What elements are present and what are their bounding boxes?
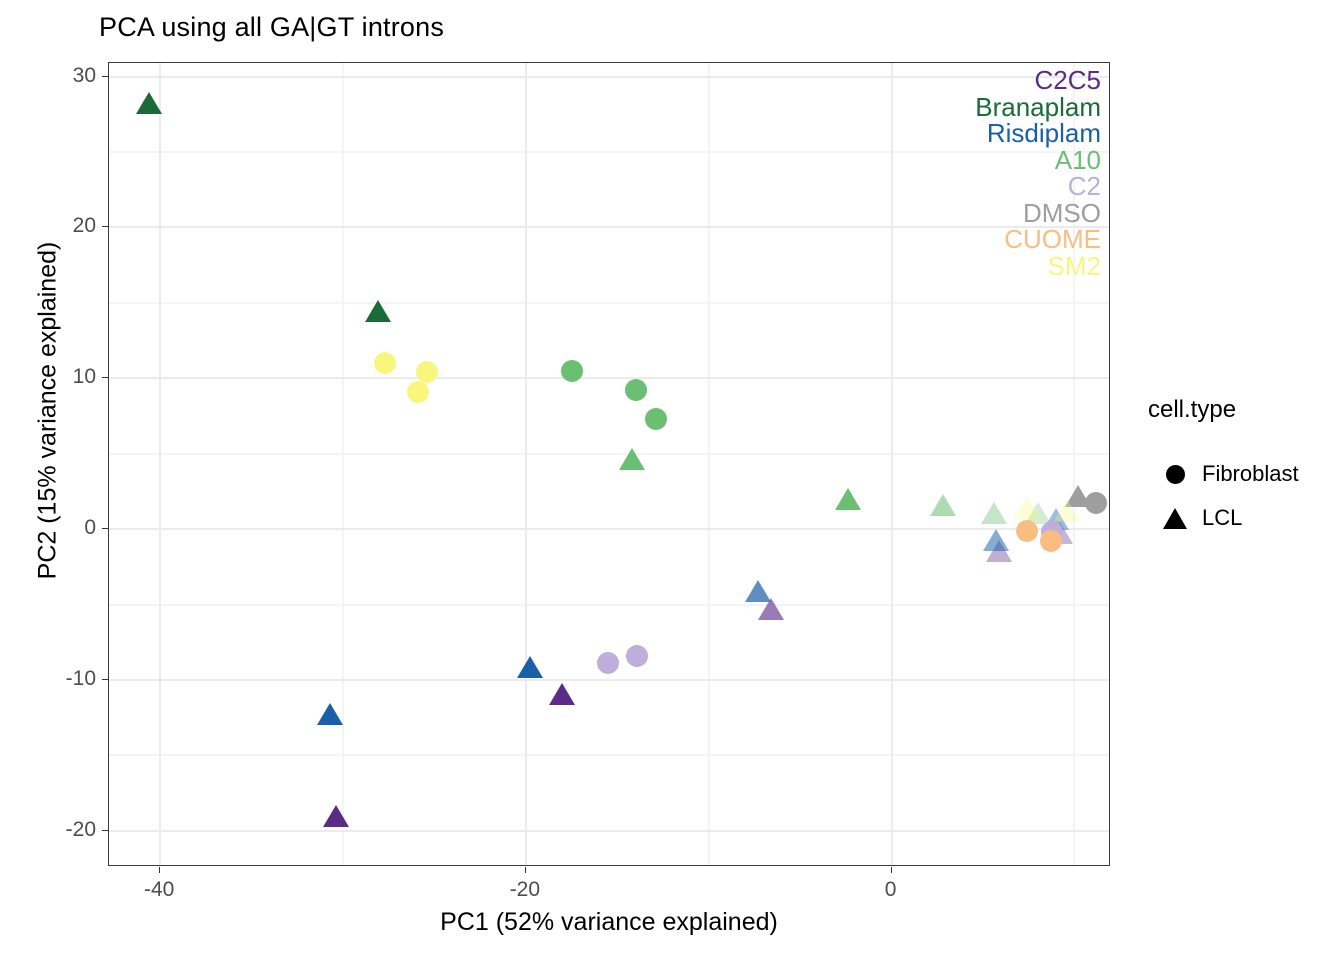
data-point bbox=[1054, 499, 1080, 521]
plot-panel: C2C5BranaplamRisdiplamA10C2DMSOCUOMESM2 bbox=[108, 62, 1110, 866]
color-key-item-dmso: DMSO bbox=[975, 200, 1101, 227]
data-point bbox=[549, 683, 575, 705]
data-point bbox=[317, 703, 343, 725]
page-title: PCA using all GA|GT introns bbox=[99, 12, 444, 43]
y-axis-tick bbox=[102, 76, 108, 77]
color-key-item-risdiplam: Risdiplam bbox=[975, 120, 1101, 147]
x-axis-tick-label: 0 bbox=[851, 878, 931, 902]
legend-key bbox=[1148, 508, 1202, 529]
gridline bbox=[109, 679, 1109, 681]
circle-icon bbox=[1166, 465, 1185, 484]
gridline bbox=[708, 63, 710, 865]
legend-item-label: LCL bbox=[1202, 505, 1242, 531]
y-axis-label: PC2 (15% variance explained) bbox=[34, 31, 63, 791]
gridline bbox=[891, 63, 893, 865]
data-point bbox=[983, 529, 1009, 551]
x-axis-tick-label: -40 bbox=[119, 878, 199, 902]
data-point bbox=[365, 300, 391, 322]
data-point bbox=[619, 448, 645, 470]
gridline bbox=[109, 528, 1109, 530]
x-axis-tick-label: -20 bbox=[485, 878, 565, 902]
x-axis-label: PC1 (52% variance explained) bbox=[108, 908, 1110, 937]
data-point bbox=[561, 360, 583, 382]
data-point bbox=[323, 805, 349, 827]
triangle-icon bbox=[1163, 508, 1187, 529]
data-point bbox=[835, 488, 861, 510]
gridline bbox=[109, 377, 1109, 379]
data-point bbox=[981, 502, 1007, 524]
legend-key bbox=[1148, 465, 1202, 484]
y-axis-tick bbox=[102, 226, 108, 227]
gridline bbox=[109, 830, 1109, 832]
data-point bbox=[745, 580, 771, 602]
color-key-item-a10: A10 bbox=[975, 147, 1101, 174]
cell-type-legend: cell.type FibroblastLCL bbox=[1148, 396, 1338, 540]
gridline bbox=[109, 151, 1109, 153]
x-axis-tick bbox=[159, 867, 160, 873]
y-axis-tick bbox=[102, 528, 108, 529]
color-key-item-sm2: SM2 bbox=[975, 253, 1101, 280]
x-axis-tick bbox=[891, 867, 892, 873]
data-point bbox=[645, 408, 667, 430]
gridline bbox=[109, 76, 1109, 78]
y-axis-tick bbox=[102, 679, 108, 680]
y-axis-tick bbox=[102, 377, 108, 378]
x-axis-tick bbox=[525, 867, 526, 873]
data-point bbox=[407, 381, 429, 403]
legend-item-fibroblast: Fibroblast bbox=[1148, 452, 1338, 496]
gridline bbox=[109, 754, 1109, 756]
gridline bbox=[109, 302, 1109, 304]
legend-rows: FibroblastLCL bbox=[1148, 452, 1338, 540]
y-axis-tick bbox=[102, 830, 108, 831]
data-point bbox=[1016, 520, 1038, 542]
legend-item-label: Fibroblast bbox=[1202, 461, 1299, 487]
color-key-item-c2c5: C2C5 bbox=[975, 67, 1101, 94]
gridline bbox=[159, 63, 161, 865]
data-point bbox=[930, 494, 956, 516]
data-point bbox=[136, 92, 162, 114]
pca-scatter-plot: PCA using all GA|GT introns C2C5Branapla… bbox=[0, 0, 1344, 960]
data-point bbox=[1040, 530, 1062, 552]
legend-title: cell.type bbox=[1148, 396, 1338, 424]
grid-lines bbox=[109, 63, 1109, 865]
gridline bbox=[525, 63, 527, 865]
gridline bbox=[342, 63, 344, 865]
data-point bbox=[1014, 497, 1040, 519]
data-point bbox=[625, 379, 647, 401]
gridline bbox=[109, 604, 1109, 606]
legend-item-lcl: LCL bbox=[1148, 496, 1338, 540]
y-axis-tick-label: -20 bbox=[36, 818, 96, 842]
color-key-item-branaplam: Branaplam bbox=[975, 94, 1101, 121]
gridline bbox=[109, 226, 1109, 228]
color-key-item-cuome: CUOME bbox=[975, 226, 1101, 253]
color-key: C2C5BranaplamRisdiplamA10C2DMSOCUOMESM2 bbox=[975, 67, 1101, 279]
gridline bbox=[109, 453, 1109, 455]
data-point bbox=[517, 656, 543, 678]
color-key-item-c2: C2 bbox=[975, 173, 1101, 200]
